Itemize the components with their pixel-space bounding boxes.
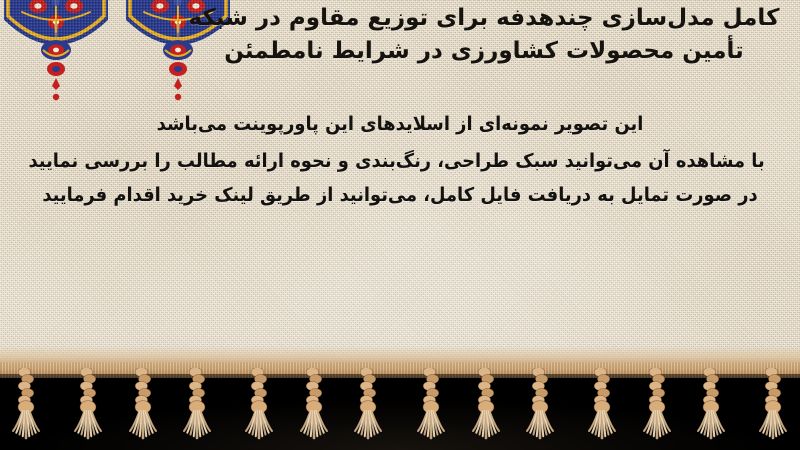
fringe-tassel	[463, 368, 509, 448]
slide-body: این تصویر نمونه‌ای از اسلایدهای این پاور…	[12, 108, 788, 212]
fringe-tassel	[291, 368, 337, 448]
title-line-1: کامل مدل‌سازی چندهدفه برای توزیع مقاوم د…	[184, 2, 784, 35]
carpet-fringe-band	[0, 362, 800, 450]
fringe-tassel	[234, 368, 280, 448]
body-line-2: با مشاهده آن می‌توانید سبک طراحی، رنگ‌بن…	[35, 145, 764, 179]
fringe-tassel	[520, 368, 566, 448]
fringe-tassel	[120, 368, 166, 448]
fringe-tassel	[691, 368, 737, 448]
title-line-2: تأمین محصولات کشاورزی در شرایط نامطمئن	[184, 35, 784, 68]
slide-canvas: کامل مدل‌سازی چندهدفه برای توزیع مقاوم د…	[0, 0, 800, 450]
fringe-tassel	[177, 368, 223, 448]
fringe-tassel	[634, 368, 680, 448]
body-line-1: این تصویر نمونه‌ای از اسلایدهای این پاور…	[35, 108, 764, 142]
persian-medallion-icon-left	[0, 0, 116, 111]
fringe-tassel	[6, 368, 52, 448]
fringe-tassel	[406, 368, 452, 448]
fringe-tassel	[63, 368, 109, 448]
fringe-tassel	[748, 368, 794, 448]
fringe-tassel	[577, 368, 623, 448]
fringe-tassel	[348, 368, 394, 448]
slide-title: کامل مدل‌سازی چندهدفه برای توزیع مقاوم د…	[184, 2, 784, 67]
body-line-3: در صورت تمایل به دریافت فایل کامل، می‌تو…	[35, 179, 764, 213]
